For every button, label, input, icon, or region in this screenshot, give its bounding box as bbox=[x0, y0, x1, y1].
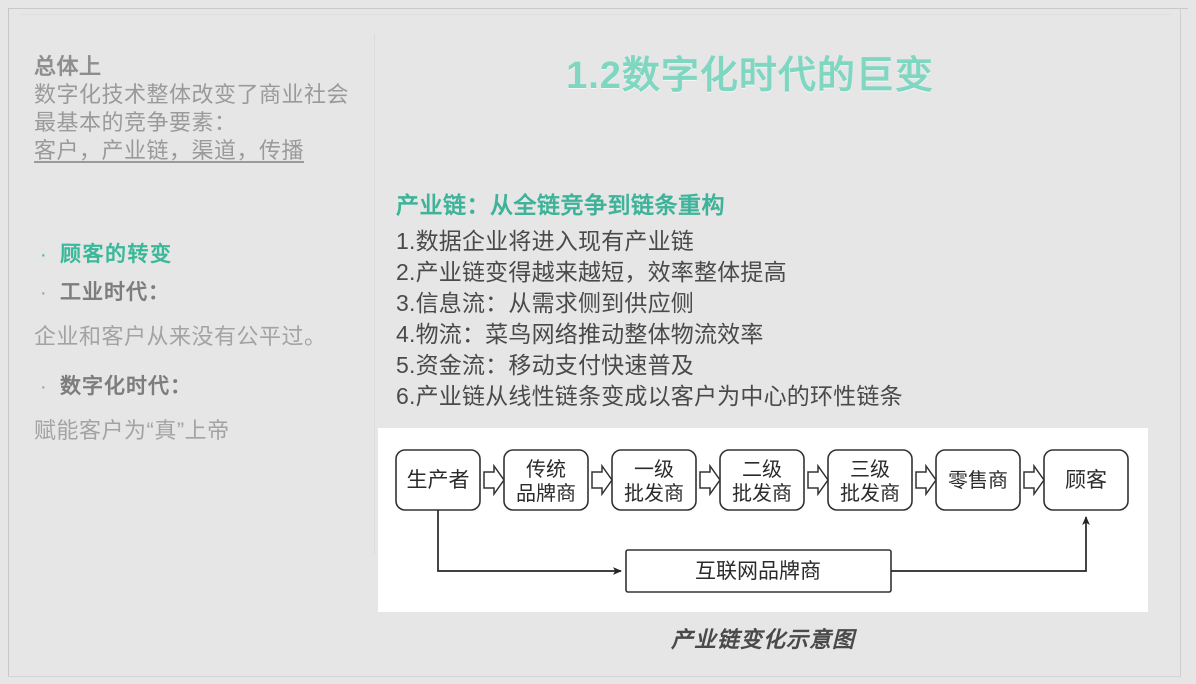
bullet-item-customer-shift[interactable]: · 顾客的转变 bbox=[34, 238, 384, 272]
frame-border-bottom bbox=[8, 676, 1181, 677]
frame-inner-rule bbox=[20, 14, 1170, 15]
slide-canvas: 1.2数字化时代的巨变 总体上 数字化技术整体改变了商业社会 最基本的竞争要素：… bbox=[0, 0, 1196, 684]
left-intro-block: 总体上 数字化技术整体改变了商业社会 最基本的竞争要素： 客户，产业链，渠道，传… bbox=[34, 52, 379, 165]
block-arrow-icon bbox=[592, 466, 612, 494]
numbered-item-1: 1.数据企业将进入现有产业链 bbox=[396, 226, 1186, 257]
chain-node-traditional-brand[interactable]: 传统 品牌商 bbox=[504, 450, 588, 510]
bullet-sub-text-digital: 赋能客户为“真”上帝 bbox=[34, 414, 384, 448]
chain-node-label-line2: 批发商 bbox=[624, 482, 684, 505]
numbered-item-2: 2.产业链变得越来越短，效率整体提高 bbox=[396, 257, 1186, 288]
chain-node-first-wholesaler[interactable]: 一级 批发商 bbox=[612, 450, 696, 510]
chain-node-third-wholesaler[interactable]: 三级 批发商 bbox=[828, 450, 912, 510]
chain-node-label-line1: 传统 bbox=[526, 458, 566, 481]
bypass-node-label: 互联网品牌商 bbox=[695, 559, 821, 583]
block-arrow-icon bbox=[808, 466, 828, 494]
chain-node-label: 生产者 bbox=[407, 468, 470, 492]
connector-producer-to-bypass bbox=[438, 510, 621, 571]
supply-chain-diagram: 生产者 传统 品牌商 一级 批发商 二级 批发商 三级 批发商 bbox=[378, 428, 1148, 612]
bullet-label: 顾客的转变 bbox=[60, 238, 173, 272]
lead-underlined-line: 客户，产业链，渠道，传播 bbox=[34, 137, 379, 165]
chain-node-retailer[interactable]: 零售商 bbox=[936, 450, 1020, 510]
lead-line-1: 数字化技术整体改变了商业社会 bbox=[34, 81, 379, 109]
column-divider bbox=[374, 34, 375, 554]
chain-node-producer[interactable]: 生产者 bbox=[396, 450, 480, 510]
chain-node-customer[interactable]: 顾客 bbox=[1044, 450, 1128, 510]
bullet-dot-icon: · bbox=[34, 238, 60, 272]
block-arrow-icon bbox=[1024, 466, 1044, 494]
bullet-label: 工业时代： bbox=[60, 276, 170, 310]
chain-node-label-line2: 批发商 bbox=[840, 482, 900, 505]
bullet-sub-text-industrial: 企业和客户从来没有公平过。 bbox=[34, 320, 384, 354]
lead-line-2: 最基本的竞争要素： bbox=[34, 109, 379, 137]
numbered-item-3: 3.信息流：从需求侧到供应侧 bbox=[396, 288, 1186, 319]
block-arrow-icon bbox=[916, 466, 936, 494]
bypass-node-internet-brand[interactable]: 互联网品牌商 bbox=[626, 550, 891, 592]
chain-node-label-line1: 三级 bbox=[850, 458, 890, 481]
bullet-dot-icon: · bbox=[34, 276, 60, 310]
block-arrow-icon bbox=[484, 466, 504, 494]
frame-border-top bbox=[8, 8, 1188, 9]
block-arrow-icon bbox=[700, 466, 720, 494]
chain-node-label: 顾客 bbox=[1065, 468, 1107, 492]
numbered-item-5: 5.资金流：移动支付快速普及 bbox=[396, 350, 1186, 381]
chain-node-label-line1: 二级 bbox=[742, 458, 782, 481]
lead-title: 总体上 bbox=[34, 52, 379, 81]
bullet-dot-icon: · bbox=[34, 370, 60, 404]
chain-node-label: 零售商 bbox=[948, 469, 1008, 492]
bullet-item-digital-era[interactable]: · 数字化时代： bbox=[34, 370, 384, 404]
frame-border-left bbox=[8, 8, 9, 676]
page-title: 1.2数字化时代的巨变 bbox=[430, 44, 1070, 99]
chain-node-label-line1: 一级 bbox=[634, 458, 674, 481]
section-heading: 产业链：从全链竞争到链条重构 bbox=[396, 190, 1186, 221]
connector-bypass-to-customer bbox=[891, 517, 1086, 571]
chain-node-second-wholesaler[interactable]: 二级 批发商 bbox=[720, 450, 804, 510]
numbered-item-4: 4.物流：菜鸟网络推动整体物流效率 bbox=[396, 319, 1186, 350]
left-bullet-list: · 顾客的转变 · 工业时代： 企业和客户从来没有公平过。 · 数字化时代： 赋… bbox=[34, 238, 384, 448]
right-content-block: 产业链：从全链竞争到链条重构 1.数据企业将进入现有产业链 2.产业链变得越来越… bbox=[396, 190, 1186, 412]
diagram-caption: 产业链变化示意图 bbox=[378, 622, 1148, 654]
numbered-item-6: 6.产业链从线性链条变成以客户为中心的环性链条 bbox=[396, 381, 1186, 412]
bullet-label: 数字化时代： bbox=[60, 370, 192, 404]
chain-node-label-line2: 批发商 bbox=[732, 482, 792, 505]
bullet-item-industrial-era[interactable]: · 工业时代： bbox=[34, 276, 384, 310]
chain-node-label-line2: 品牌商 bbox=[516, 482, 576, 505]
